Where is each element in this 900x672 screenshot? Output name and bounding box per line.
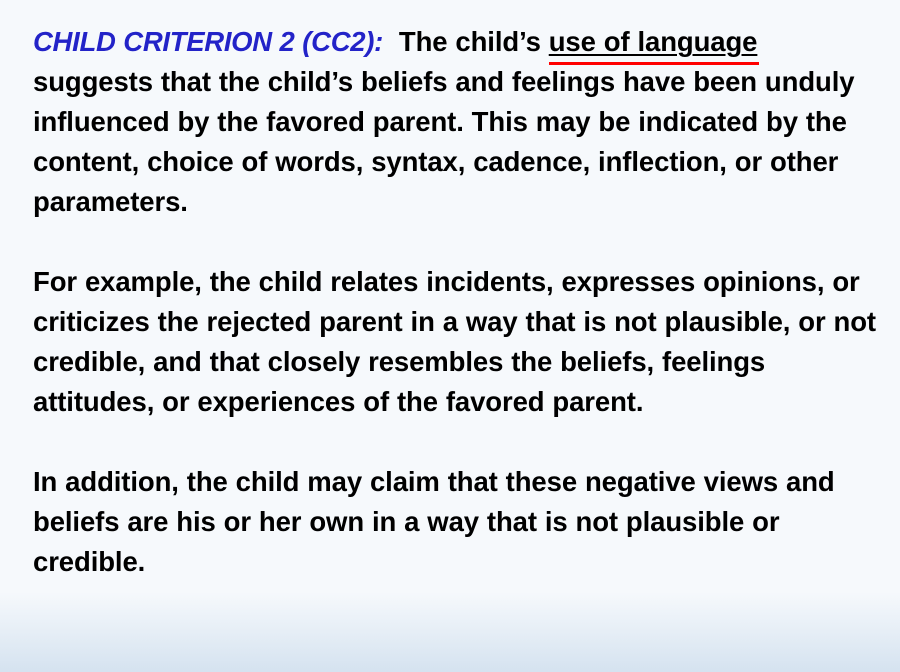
slide-text-body: CHILD CRITERION 2 (CC2): The child’s use… xyxy=(33,22,878,582)
paragraph-addition: In addition, the child may claim that th… xyxy=(33,462,878,582)
paragraph-spacer-1 xyxy=(33,222,878,262)
slide-bottom-gradient-band xyxy=(0,592,900,672)
paragraph-example: For example, the child relates incidents… xyxy=(33,262,878,422)
heading-spacer xyxy=(383,26,399,57)
criterion-heading-label: CHILD CRITERION 2 (CC2): xyxy=(33,26,383,57)
paragraph-spacer-2 xyxy=(33,422,878,462)
paragraph-rest-text: suggests that the child’s beliefs and fe… xyxy=(33,66,854,217)
paragraph-criterion-definition: CHILD CRITERION 2 (CC2): The child’s use… xyxy=(33,22,878,222)
paragraph-lead-text: The child’s xyxy=(399,26,549,57)
emphasized-phrase-use-of-language: use of language xyxy=(549,26,758,57)
slide-canvas: CHILD CRITERION 2 (CC2): The child’s use… xyxy=(0,0,900,672)
